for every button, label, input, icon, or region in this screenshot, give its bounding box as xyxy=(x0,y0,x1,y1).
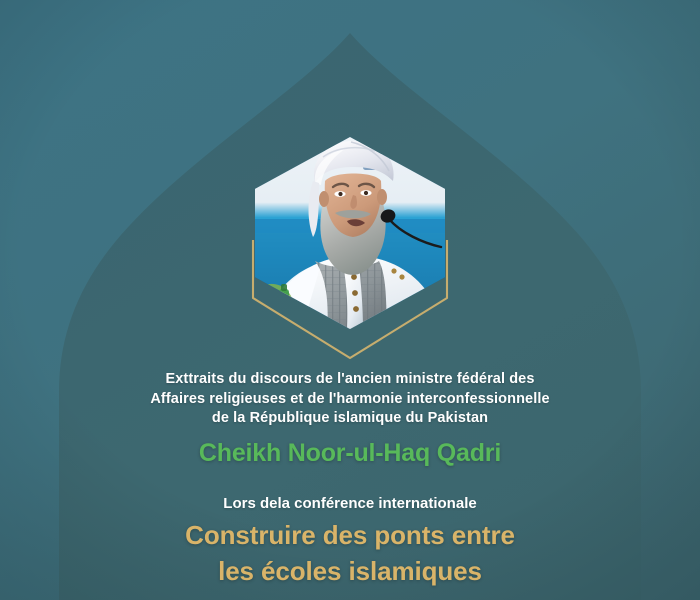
conference-poster: Exttraits du discours de l'ancien minist… xyxy=(0,0,700,600)
intro-line-1: Exttraits du discours de l'ancien minist… xyxy=(0,370,700,390)
speaker-name: Cheikh Noor-ul-Haq Qadri xyxy=(0,438,700,468)
intro-line-3: de la République islamique du Pakistan xyxy=(0,409,700,429)
poster-text-block: Exttraits du discours de l'ancien minist… xyxy=(0,370,700,586)
headline-line-2: les écoles islamiques xyxy=(0,557,700,586)
intro-line-2: Affaires religieuses et de l'harmonie in… xyxy=(0,390,700,410)
headline-line-1: Construire des ponts entre xyxy=(0,521,700,550)
event-subtitle: Lors dela conférence internationale xyxy=(0,494,700,514)
portrait-hexagon-frame xyxy=(255,137,445,329)
portrait-photo xyxy=(255,137,445,329)
speaker-portrait xyxy=(255,137,445,329)
